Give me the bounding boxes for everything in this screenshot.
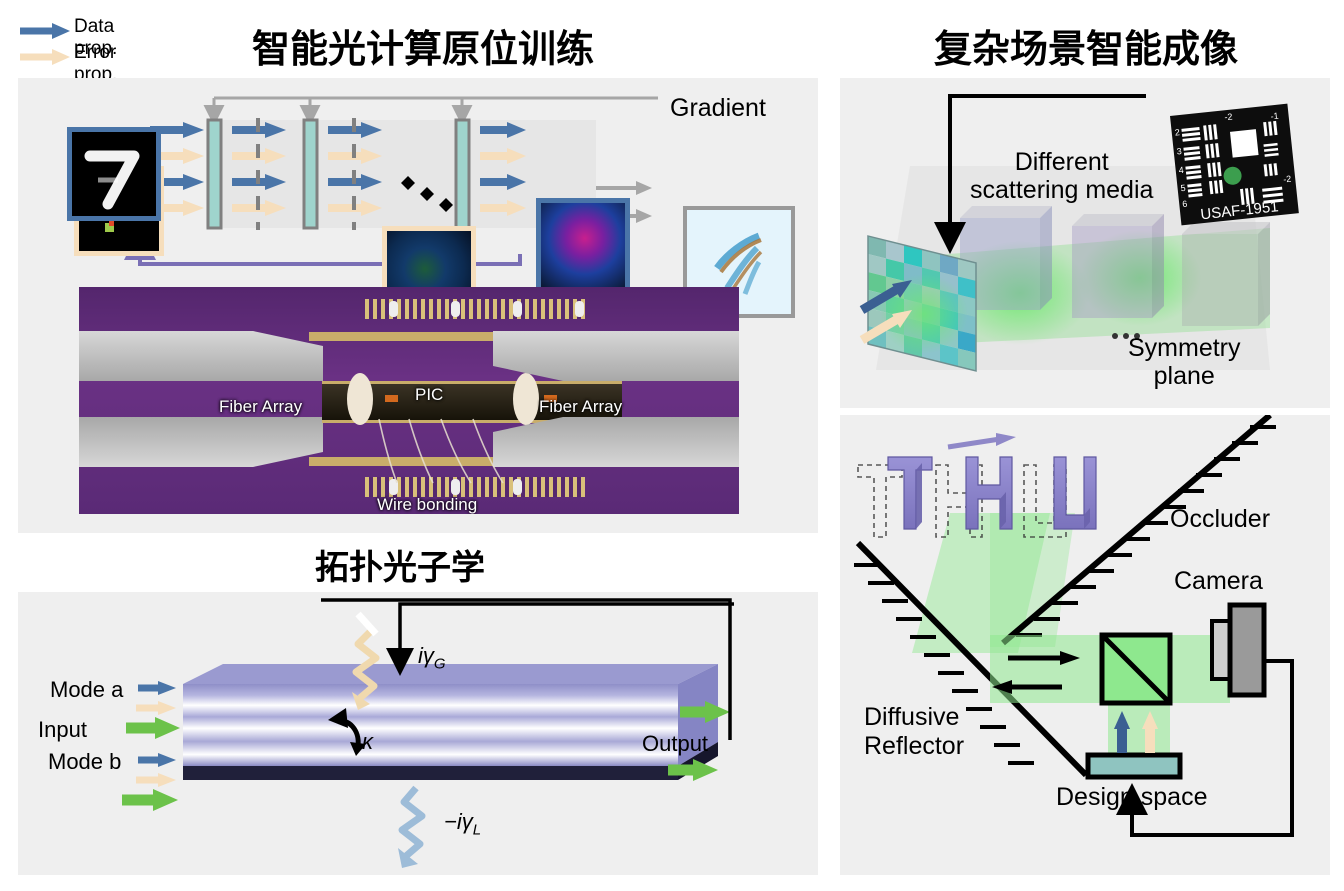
design-space-plate bbox=[1088, 755, 1180, 777]
panel-free-space-optical-setup: Occluder Camera Diffusive Reflector Desi… bbox=[840, 415, 1330, 875]
svg-text:-2: -2 bbox=[1283, 174, 1292, 185]
thu-motion-arrow-icon bbox=[948, 433, 1016, 447]
gain-feedback-line bbox=[400, 604, 734, 662]
chip-label-fiber-array-left: Fiber Array bbox=[219, 397, 302, 417]
diffractive-layer-2-icon bbox=[304, 120, 317, 228]
panel-title-topological-photonics: 拓扑光子学 bbox=[315, 540, 485, 589]
thu-letters bbox=[858, 433, 1096, 537]
output-label: Output bbox=[642, 732, 708, 757]
waveguide-top-face bbox=[183, 664, 718, 684]
mode-b-arrows-icon bbox=[122, 753, 178, 811]
svg-text:6: 6 bbox=[1182, 199, 1188, 209]
diffractive-layer-1-icon bbox=[208, 120, 221, 228]
panel-topological-photonics: Mode a Input Mode b Output iγG −iγL κ bbox=[18, 592, 818, 875]
design-space-label: Design space bbox=[1056, 783, 1207, 811]
wire-bond-lines bbox=[79, 287, 739, 514]
diffusive-reflector-label: Diffusive Reflector bbox=[864, 703, 964, 761]
mode-b-label: Mode b bbox=[48, 750, 121, 775]
beamsplitter-cube bbox=[1102, 635, 1170, 703]
error-prop-arrow-icon bbox=[18, 44, 74, 70]
diffractive-layer-3-icon bbox=[456, 120, 469, 228]
occluder-label: Occluder bbox=[1170, 505, 1270, 533]
scattering-cube-3 bbox=[1182, 222, 1270, 326]
input-digit-image bbox=[67, 127, 161, 221]
svg-text:4: 4 bbox=[1178, 165, 1184, 175]
loss-coefficient-label: −iγL bbox=[444, 810, 481, 839]
loss-zigzag-icon bbox=[402, 788, 422, 856]
gradient-bus-icon bbox=[214, 98, 658, 114]
scattering-diagram: 234 56 -2-1-2 USAF-1951 bbox=[840, 78, 1330, 408]
waveguide-front-face bbox=[183, 684, 678, 766]
svg-text:3: 3 bbox=[1176, 146, 1182, 156]
chip-label-pic: PIC bbox=[415, 385, 443, 405]
gain-coefficient-label: iγG bbox=[418, 644, 446, 673]
panel-title-complex-scene-imaging: 复杂场景智能成像 bbox=[934, 18, 1238, 73]
output-data-speckle-image bbox=[536, 198, 630, 292]
coupling-kappa-label: κ bbox=[362, 730, 373, 755]
data-prop-arrow-icon bbox=[18, 18, 74, 44]
mnist-seven-glyph bbox=[72, 132, 156, 216]
svg-text:-2: -2 bbox=[1224, 112, 1233, 123]
svg-text:-1: -1 bbox=[1270, 111, 1279, 122]
camera-label: Camera bbox=[1174, 567, 1263, 595]
svg-text:2: 2 bbox=[1174, 127, 1180, 137]
mode-a-label: Mode a bbox=[50, 678, 123, 703]
photonic-chip-photo: Fiber Array PIC Fiber Array Wire bonding bbox=[79, 287, 739, 514]
scattering-cube-2 bbox=[1072, 214, 1164, 318]
svg-text:5: 5 bbox=[1180, 183, 1186, 193]
chip-label-fiber-array-right: Fiber Array bbox=[539, 397, 622, 417]
usaf-target: 234 56 -2-1-2 USAF-1951 bbox=[1170, 104, 1299, 226]
panel-title-in-situ-training: 智能光计算原位训练 bbox=[252, 18, 594, 73]
symmetry-plane-label: Symmetry plane bbox=[1128, 334, 1241, 390]
gradient-label: Gradient bbox=[670, 94, 766, 122]
legend: Data prop. Error prop. bbox=[18, 18, 248, 74]
scattering-media-label: Different scattering media bbox=[970, 148, 1153, 204]
chip-label-wire-bonding: Wire bonding bbox=[377, 495, 477, 514]
mode-a-arrows-icon bbox=[126, 681, 180, 739]
input-label: Input bbox=[38, 718, 87, 743]
panel-complex-scene-imaging: 234 56 -2-1-2 USAF-1951 Different scatte… bbox=[840, 78, 1330, 408]
